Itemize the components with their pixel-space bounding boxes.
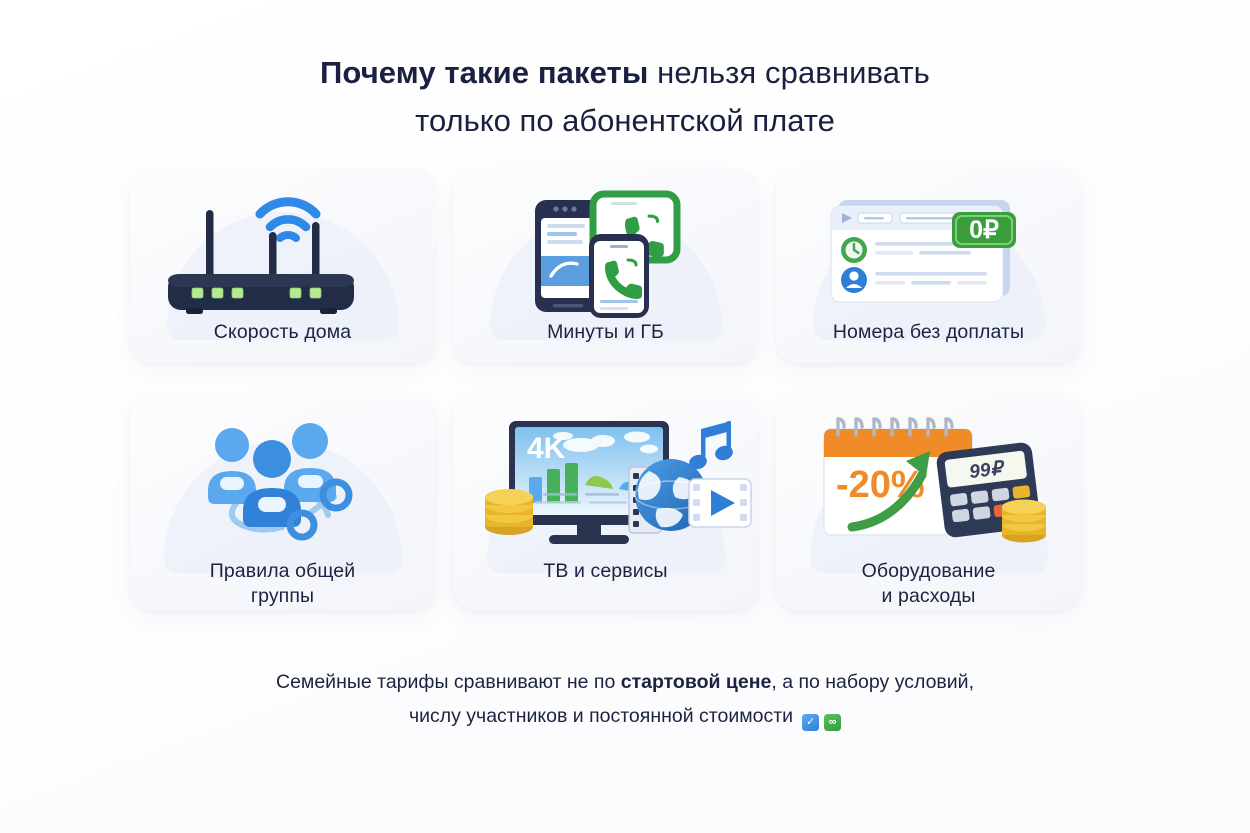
title-rest-part: нельзя сравнивать bbox=[648, 55, 930, 90]
card-label: Минуты и ГБ bbox=[537, 320, 674, 345]
zero-price-badge-text: 0₽ bbox=[969, 216, 999, 244]
footer-note: Семейные тарифы сравнивают не по стартов… bbox=[0, 666, 1250, 733]
calendar-discount-calculator-icon: -20% 99₽ bbox=[776, 405, 1081, 555]
card-label: Номера без доплаты bbox=[823, 320, 1034, 345]
footer-text-b: , а по набору условий, bbox=[771, 671, 974, 693]
card-label: Скорость дома bbox=[204, 320, 361, 345]
tv-screen-4k-text: 4K bbox=[527, 432, 566, 465]
calculator-display-text: 99₽ bbox=[968, 458, 1006, 483]
footer-badges: ✓∞ bbox=[802, 714, 841, 731]
green-badge-icon: ∞ bbox=[824, 714, 841, 731]
card-speed-home[interactable]: Скорость дома bbox=[130, 168, 435, 363]
infographic-page: Почему такие пакеты нельзя сравнивать то… bbox=[0, 0, 1250, 833]
wifi-router-icon bbox=[130, 178, 435, 318]
footer-text-a: Семейные тарифы сравнивают не по bbox=[276, 671, 621, 693]
footer-text-line2: числу участников и постоянной стоимости bbox=[409, 705, 793, 727]
card-label-line-2: и расходы bbox=[881, 585, 975, 607]
footer-line-1: Семейные тарифы сравнивают не по стартов… bbox=[0, 666, 1250, 700]
card-label: Оборудованиеи расходы bbox=[852, 559, 1006, 610]
card-label-line-1: Оборудование bbox=[862, 560, 996, 582]
contact-list-zero-price-icon: 0₽ bbox=[776, 178, 1081, 318]
title-line-1: Почему такие пакеты нельзя сравнивать bbox=[0, 52, 1250, 94]
card-equipment-costs[interactable]: -20% 99₽ bbox=[776, 395, 1081, 610]
title-strong-part: Почему такие пакеты bbox=[320, 55, 648, 90]
card-label-line-2: группы bbox=[251, 585, 314, 607]
card-label: ТВ и сервисы bbox=[533, 559, 677, 584]
phones-call-bubble-icon bbox=[453, 178, 758, 318]
card-label: Правила общейгруппы bbox=[200, 559, 365, 610]
footer-line-2: числу участников и постоянной стоимости✓… bbox=[0, 700, 1250, 734]
title-line-2: только по абонентской плате bbox=[0, 100, 1250, 142]
page-title: Почему такие пакеты нельзя сравнивать то… bbox=[0, 52, 1250, 141]
card-numbers-no-surcharge[interactable]: 0₽ Номера без доплаты bbox=[776, 168, 1081, 363]
card-tv-services[interactable]: 4K bbox=[453, 395, 758, 610]
people-group-network-icon bbox=[130, 405, 435, 555]
feature-card-grid: Скорость дома bbox=[130, 168, 1122, 610]
tv-globe-media-icon: 4K bbox=[453, 405, 758, 555]
blue-check-badge-icon: ✓ bbox=[802, 714, 819, 731]
card-group-rules[interactable]: Правила общейгруппы bbox=[130, 395, 435, 610]
card-label-line-1: Правила общей bbox=[210, 560, 355, 582]
footer-text-strong: стартовой цене bbox=[621, 671, 772, 693]
card-minutes-gb[interactable]: Минуты и ГБ bbox=[453, 168, 758, 363]
